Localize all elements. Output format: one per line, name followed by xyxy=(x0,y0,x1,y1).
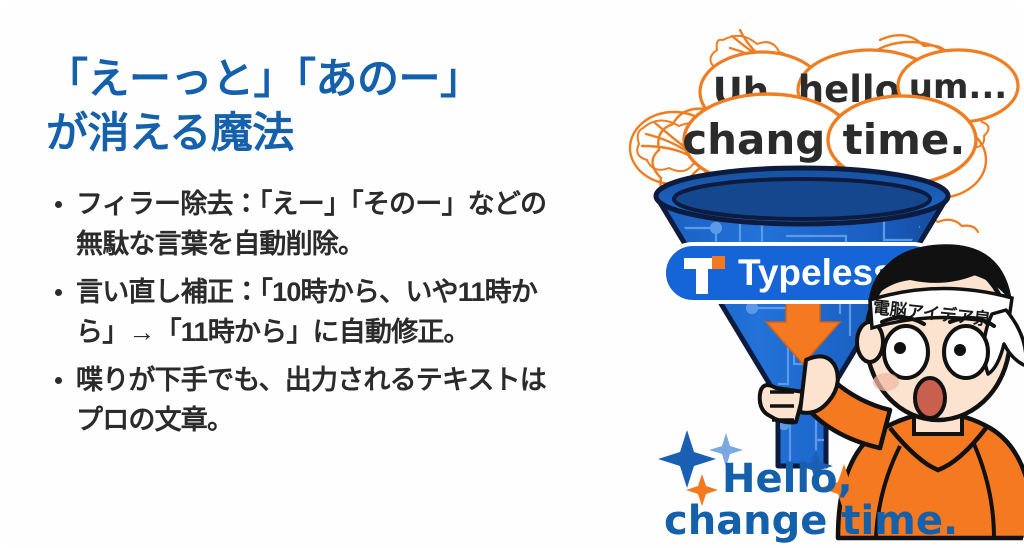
illustration: Uh... hello... um... xyxy=(580,0,1024,548)
tagline-line1: Hello, xyxy=(722,456,853,502)
slide-root: 「えーっと」「あのー」 が消える魔法 フィラー除去：「えー」「そのー」などの無駄… xyxy=(0,0,1024,548)
list-item: フィラー除去：「えー」「そのー」などの無駄な言葉を自動削除。 xyxy=(46,184,556,265)
list-item: 言い直し補正：「10時から、いや11時から」→「11時から」に自動修正。 xyxy=(46,272,556,353)
tagline-line2: change time. xyxy=(664,498,958,544)
list-item: 喋りが下手でも、出力されるテキストはプロの文章。 xyxy=(46,360,556,441)
text-column: 「えーっと」「あのー」 が消える魔法 フィラー除去：「えー」「そのー」などの無駄… xyxy=(46,52,556,448)
bubble-label: time. xyxy=(843,115,966,164)
page-title: 「えーっと」「あのー」 が消える魔法 xyxy=(46,52,556,160)
typeless-label: Typeless xyxy=(738,252,894,293)
feature-bullet-list: フィラー除去：「えー」「そのー」などの無駄な言葉を自動削除。 言い直し補正：「1… xyxy=(46,184,556,441)
